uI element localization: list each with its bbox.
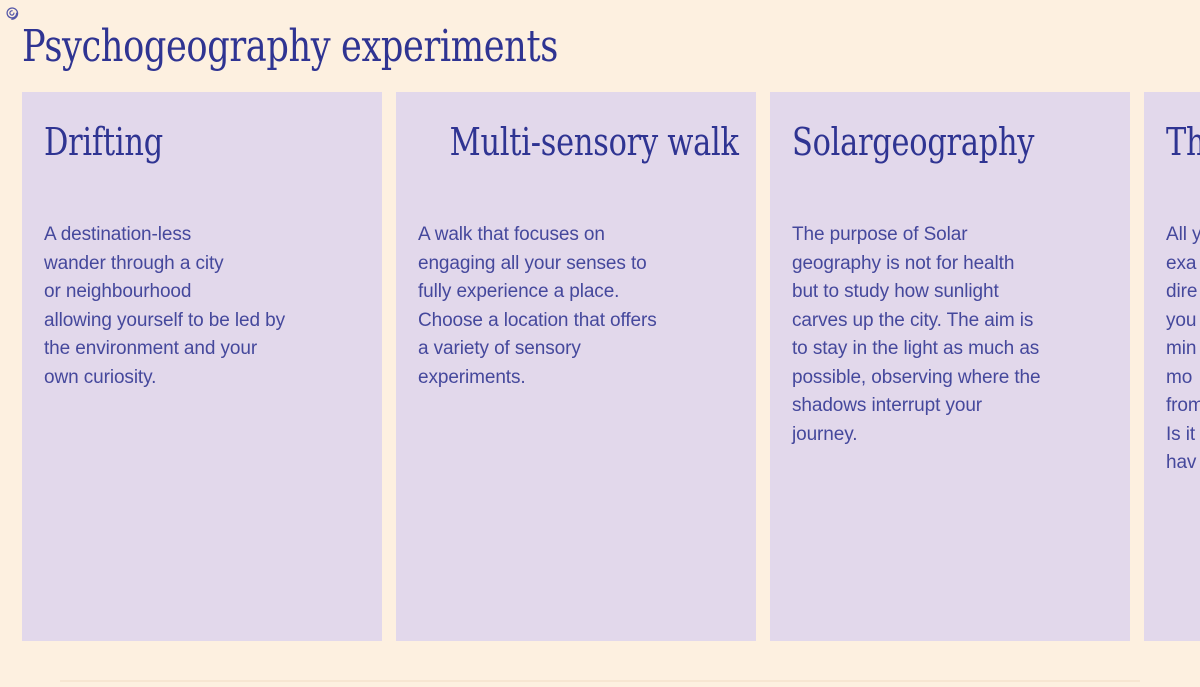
card-title: Solargeography <box>792 122 1045 163</box>
spiral-icon <box>2 2 22 22</box>
experiment-card[interactable]: Multi-sensory walk A walk that focuses o… <box>396 92 756 641</box>
experiment-card[interactable]: Drifting A destination-less wander throu… <box>22 92 382 641</box>
experiment-card-rail[interactable]: Drifting A destination-less wander throu… <box>22 92 1200 641</box>
spiral-logo[interactable] <box>2 2 22 22</box>
experiment-card[interactable]: The All y exa dire you min mo from Is it… <box>1144 92 1200 641</box>
page-title: Psychogeography experiments <box>22 24 558 70</box>
card-title: Drifting <box>44 122 297 163</box>
card-title: The <box>1166 122 1200 163</box>
card-body: The purpose of Solar geography is not fo… <box>792 221 1108 449</box>
experiment-card[interactable]: Solargeography The purpose of Solar geog… <box>770 92 1130 641</box>
horizontal-scrollbar-track[interactable] <box>60 680 1140 682</box>
card-body: All y exa dire you min mo from Is it hav <box>1166 221 1200 478</box>
card-body: A walk that focuses on engaging all your… <box>418 221 734 392</box>
card-body: A destination-less wander through a city… <box>44 221 360 392</box>
card-title: Multi-sensory walk <box>450 122 703 163</box>
